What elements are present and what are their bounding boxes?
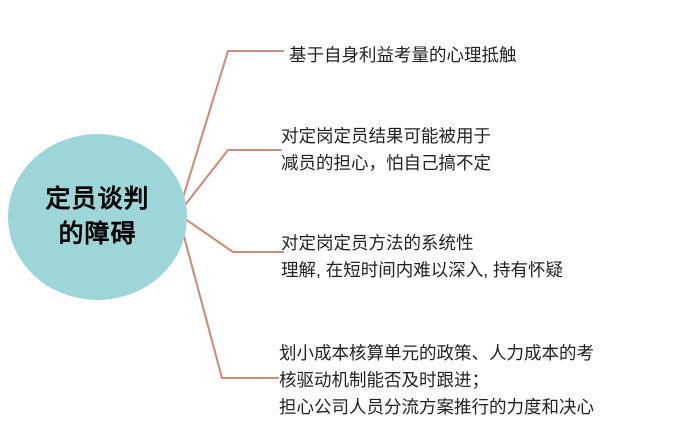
branch-label-1[interactable]: 基于自身利益考量的心理抵触	[289, 42, 517, 69]
branch-3-line-1: 对定岗定员方法的系统性	[281, 230, 563, 257]
connector-line-1	[178, 51, 283, 214]
branch-4-line-3: 担心公司人员分流方案推行的力度和决心	[279, 394, 594, 421]
branch-label-4[interactable]: 划小成本核算单元的政策、人力成本的考 核驱动机制能否及时跟进； 担心公司人员分流…	[279, 340, 594, 421]
center-node[interactable]: 定员谈判 的障碍	[8, 134, 187, 300]
mindmap-canvas: 定员谈判 的障碍 基于自身利益考量的心理抵触 对定岗定员结果可能被用于 减员的担…	[0, 0, 700, 448]
connector-line-2	[178, 150, 281, 214]
branch-4-line-1: 划小成本核算单元的政策、人力成本的考	[279, 340, 594, 367]
branch-label-2[interactable]: 对定岗定员结果可能被用于 减员的担心，怕自己搞不定	[281, 123, 491, 177]
connector-line-4	[178, 214, 278, 378]
branch-label-3[interactable]: 对定岗定员方法的系统性 理解, 在短时间内难以深入, 持有怀疑	[281, 230, 563, 284]
connector-line-3	[178, 214, 283, 252]
branch-2-line-2: 减员的担心，怕自己搞不定	[281, 150, 491, 177]
branch-3-line-2: 理解, 在短时间内难以深入, 持有怀疑	[281, 257, 563, 284]
branch-4-line-2: 核驱动机制能否及时跟进；	[279, 367, 594, 394]
center-node-line-1: 定员谈判	[45, 182, 149, 217]
center-node-line-2: 的障碍	[58, 217, 136, 252]
branch-1-line-1: 基于自身利益考量的心理抵触	[289, 42, 517, 69]
branch-2-line-1: 对定岗定员结果可能被用于	[281, 123, 491, 150]
